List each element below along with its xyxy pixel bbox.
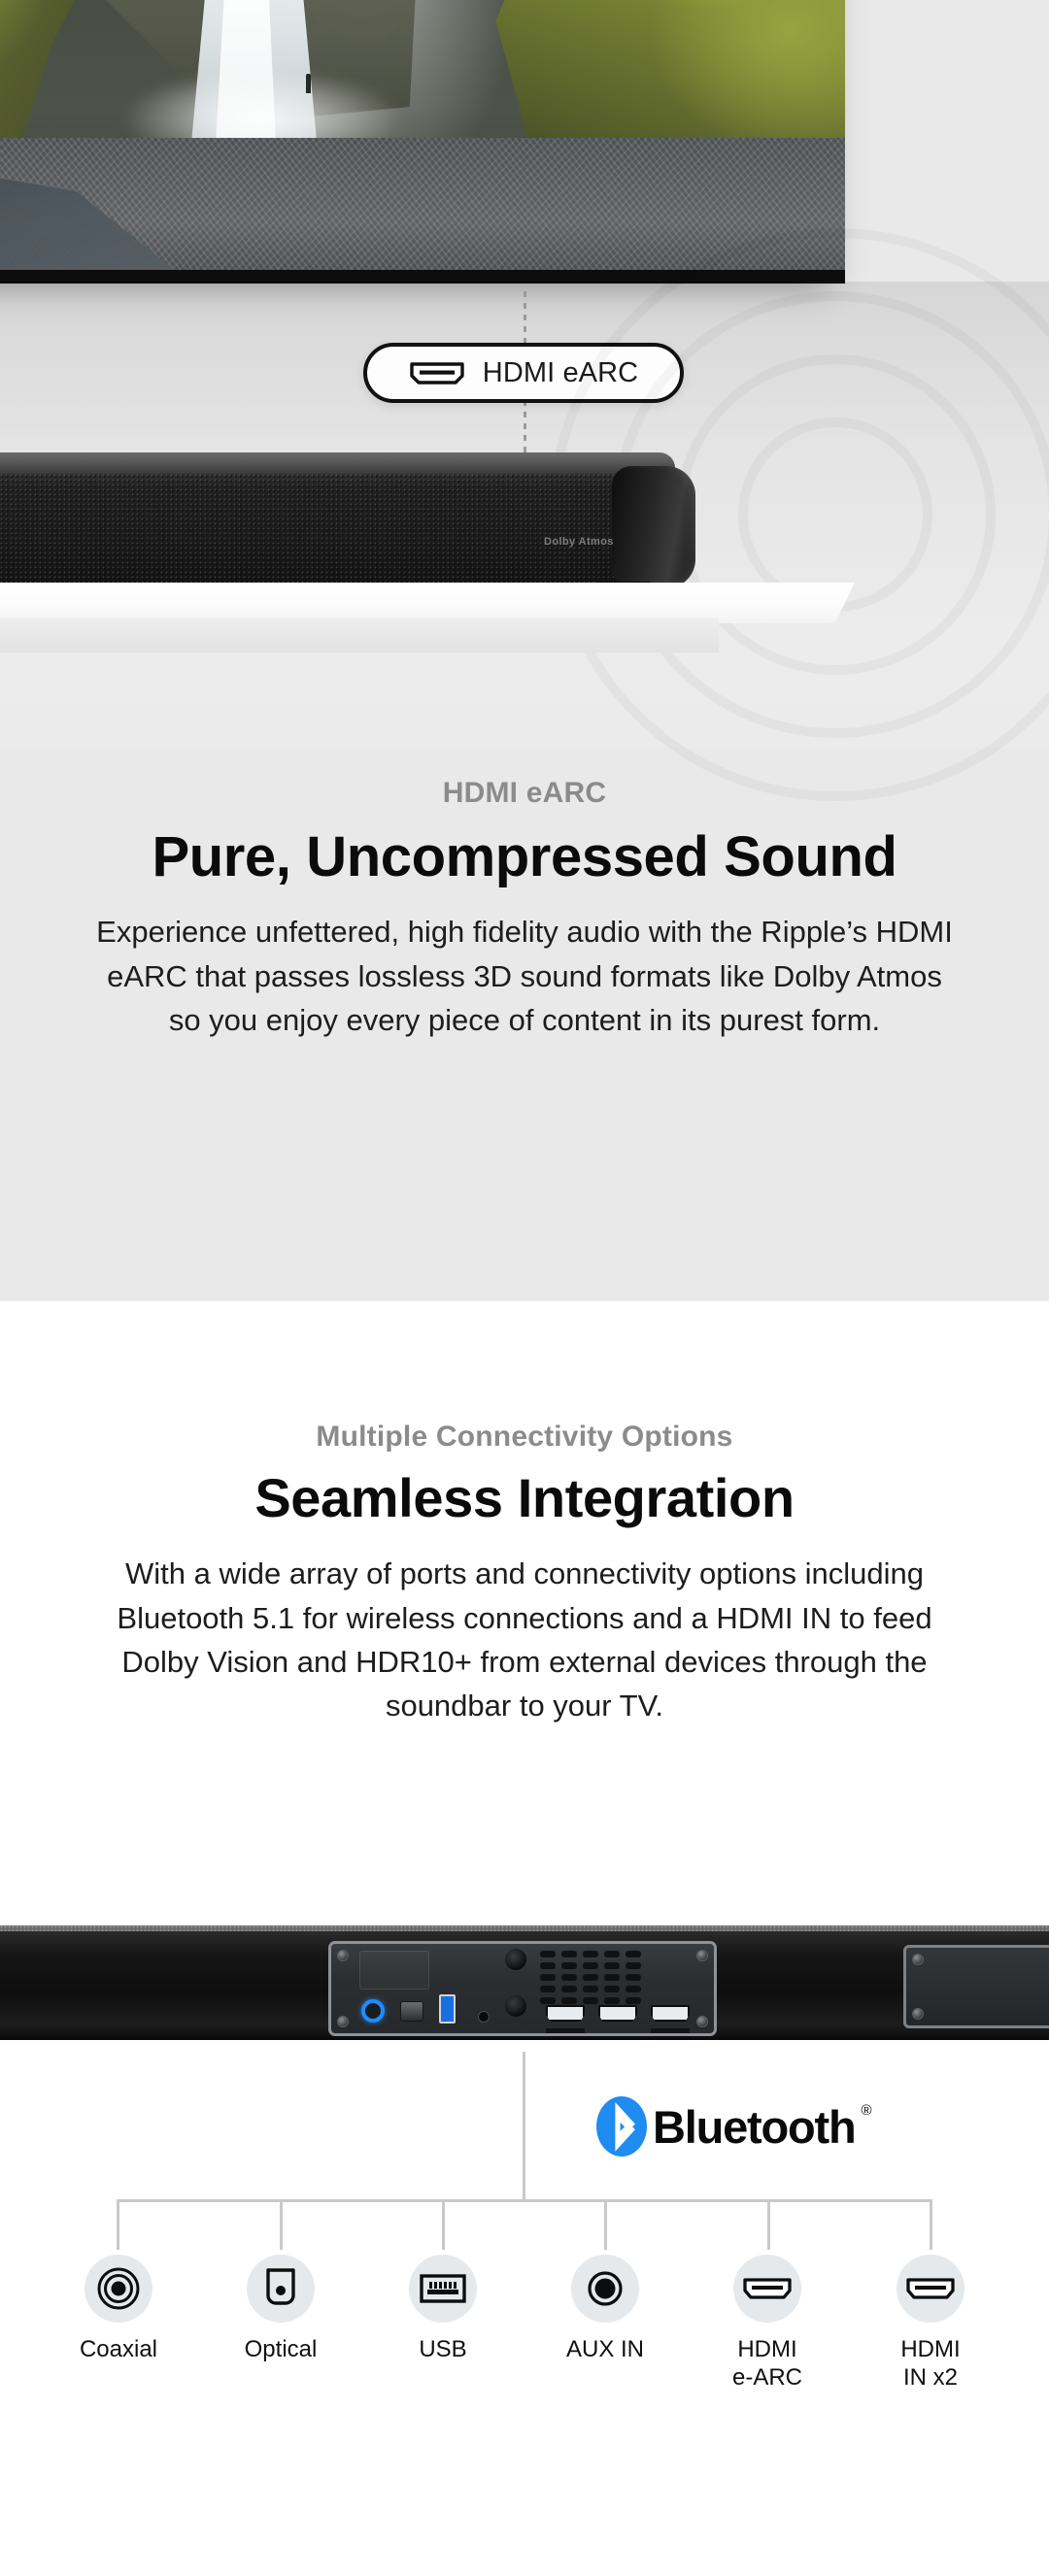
port-label: HDMI e-ARC [690,2336,845,2392]
dolby-atmos-logo: Dolby Atmos [544,536,614,548]
port-label: USB [365,2336,521,2364]
port-item-optical[interactable]: Optical [203,2255,358,2364]
rear-hdmi-earc-slot [546,2028,585,2033]
connectivity-body-text: With a wide array of ports and connectiv… [87,1552,962,1727]
dotted-connector-top [524,291,526,346]
port-item-usb[interactable]: USB [365,2255,521,2364]
plate2-screw-bottom-left [912,2008,924,2020]
bluetooth-icon [596,2096,647,2157]
soundbar-right-endcap [612,466,695,588]
bluetooth-wordmark: Bluetooth [653,2104,855,2150]
hero-copy-block: HDMI eARC Pure, Uncompressed Sound Exper… [0,777,1049,1042]
connectivity-headline: Seamless Integration [0,1469,1049,1526]
port-label: AUX IN [527,2336,683,2364]
tree-leg-hdmi-earc [767,2199,770,2250]
rear-hdmi-in1-port [598,2005,637,2022]
hdmi-port-icon [409,360,465,385]
tree-leg-optical [280,2199,283,2250]
port-item-hdmi-in[interactable]: HDMI IN x2 [853,2255,1008,2392]
soundbar-grille-mesh [0,474,653,583]
ventilation-grid [540,1951,641,2004]
plate2-screw-top-left [912,1954,924,1965]
connectivity-copy-block: Multiple Connectivity Options Seamless I… [0,1421,1049,1727]
tree-leg-hdmi-in [930,2199,932,2250]
hero-hdmi-earc-section: HDMI eARC Dolby Atmos HDMI eARC Pure, Un… [0,0,1049,1301]
rear-coaxial-port [361,1999,385,2023]
port-item-hdmi-earc[interactable]: HDMI e-ARC [690,2255,845,2392]
rear-aux-port [478,2011,490,2023]
port-connector-tree [0,2052,1049,2256]
coaxial-icon [85,2255,152,2323]
rear-mount-hole-bottom [505,1995,526,2017]
rear-warning-label [359,1951,429,1990]
rear-usb-port [439,1994,456,2024]
tree-main-stem [523,2052,525,2202]
plate-screw-top-right [696,1950,708,1961]
optical-toslink-icon [247,2255,315,2323]
tree-horizontal-bus [117,2199,932,2202]
dotted-connector-bottom [524,400,526,458]
port-item-coaxial[interactable]: Coaxial [41,2255,196,2364]
tree-leg-coaxial [117,2199,119,2250]
hero-eyebrow: HDMI eARC [0,777,1049,810]
connectivity-eyebrow: Multiple Connectivity Options [0,1421,1049,1454]
bluetooth-logo: Bluetooth ® [596,2096,872,2157]
hero-body-text: Experience unfettered, high fidelity aud… [87,910,962,1042]
plate-screw-bottom-right [696,2016,708,2027]
soundbar-top-surface [0,452,675,474]
port-label: Optical [203,2336,358,2364]
rear-hdmi-in2-port [651,2005,690,2022]
rear-secondary-plate [903,1945,1049,2028]
port-label: Coaxial [41,2336,196,2364]
port-item-aux-in[interactable]: AUX IN [527,2255,683,2364]
lone-person-silhouette [306,74,311,93]
plate-screw-bottom-left [337,2016,349,2027]
bluetooth-registered-mark: ® [861,2102,871,2119]
aux-jack-icon [571,2255,639,2323]
rear-optical-port [400,2001,423,2022]
port-label: HDMI IN x2 [853,2336,1008,2392]
rear-hdmi-earc-port [546,2005,585,2022]
tv-screen [0,0,845,270]
rear-hdmi-in2-slot [651,2028,690,2033]
rear-mount-hole-top [505,1949,526,1970]
hdmi-port-icon [897,2255,964,2323]
plate-screw-top-left [337,1950,349,1961]
shelf-front-face [0,618,719,652]
port-icon-row: Coaxial Optical USB [0,2255,1049,2507]
usb-icon [409,2255,477,2323]
hdmi-port-icon [733,2255,801,2323]
tv-device [0,0,845,284]
hero-headline: Pure, Uncompressed Sound [0,827,1049,887]
tree-leg-aux [604,2199,607,2250]
soundbar-rear-panel [0,1918,1049,2054]
tree-leg-usb [442,2199,445,2250]
